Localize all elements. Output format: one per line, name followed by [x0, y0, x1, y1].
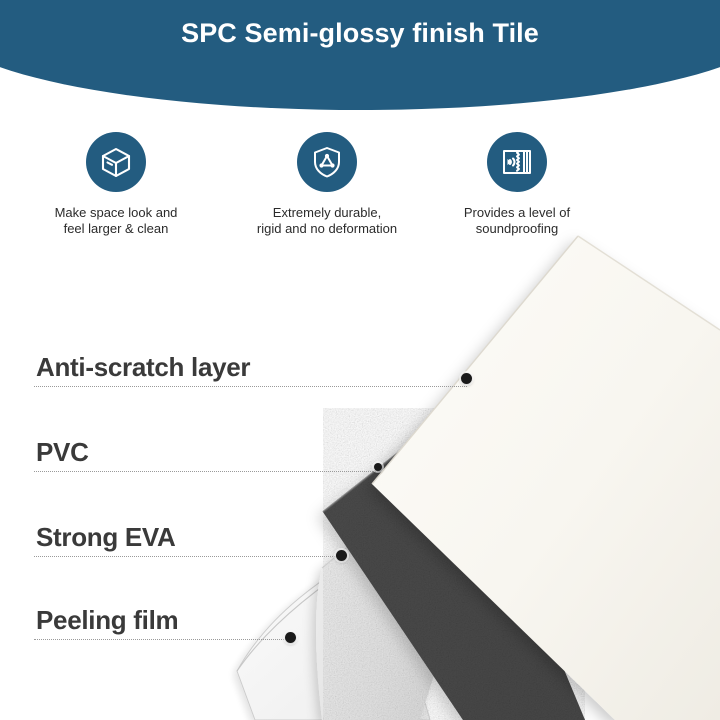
layer-label-peeling-film: Peeling film — [36, 605, 178, 636]
layer-label-strong-eva: Strong EVA — [36, 522, 176, 553]
leader-line-anti-scratch — [34, 386, 467, 387]
leader-line-strong-eva — [34, 556, 339, 557]
infographic-page: SPC Semi-glossy finish Tile Make space l… — [0, 0, 720, 720]
leader-dot-peeling-film — [285, 632, 296, 643]
leader-dot-strong-eva — [336, 550, 347, 561]
leader-dot-anti-scratch — [461, 373, 472, 384]
leader-line-peeling-film — [34, 639, 290, 640]
layer-label-pvc: PVC — [36, 437, 89, 468]
leader-line-pvc — [34, 471, 377, 472]
layer-label-anti-scratch: Anti-scratch layer — [36, 352, 250, 383]
leader-dot-pvc — [374, 463, 382, 471]
layer-callouts: Anti-scratch layer PVC Strong EVA Peelin… — [0, 0, 720, 720]
